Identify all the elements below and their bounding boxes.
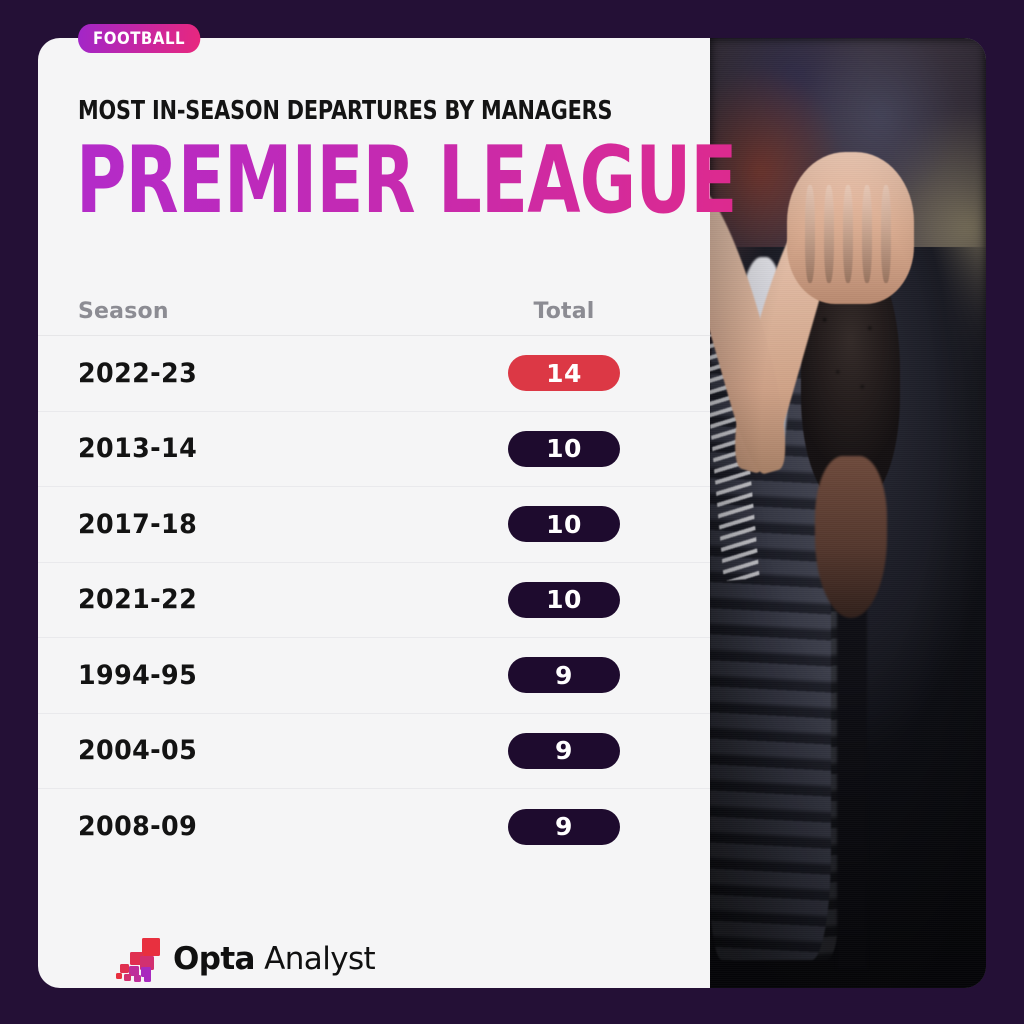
table-row: 2017-18 10 <box>38 487 710 563</box>
cell-season: 2013-14 <box>78 433 197 464</box>
cell-total: 9 <box>478 657 650 693</box>
table-row: 2013-14 10 <box>38 412 710 488</box>
cell-total: 9 <box>478 733 650 769</box>
cell-season: 2022-23 <box>78 358 197 389</box>
column-header-season: Season <box>78 299 169 324</box>
photo-grain <box>710 38 986 988</box>
total-pill: 10 <box>508 506 620 542</box>
total-pill: 9 <box>508 733 620 769</box>
opta-analyst-logo: Opta Analyst <box>116 936 375 982</box>
cell-season: 2021-22 <box>78 584 197 615</box>
table-row: 2008-09 9 <box>38 789 710 865</box>
column-header-total: Total <box>478 299 650 324</box>
infographic-root: MOST IN-SEASON DEPARTURES BY MANAGERS PR… <box>0 0 1024 1024</box>
cell-season: 1994-95 <box>78 660 197 691</box>
logo-suffix: Analyst <box>255 941 375 977</box>
category-badge: FOOTBALL <box>78 24 200 53</box>
manager-photo <box>710 38 986 988</box>
total-pill: 14 <box>508 355 620 391</box>
stats-table: Season Total 2022-23 14 2013-14 10 <box>38 288 710 865</box>
cell-total: 10 <box>478 582 650 618</box>
cell-total: 14 <box>478 355 650 391</box>
page-title: PREMIER LEAGUE <box>76 134 737 227</box>
logo-brand: Opta <box>173 941 255 977</box>
table-row: 2004-05 9 <box>38 714 710 790</box>
total-pill: 9 <box>508 809 620 845</box>
cell-season: 2008-09 <box>78 811 197 842</box>
total-pill: 10 <box>508 582 620 618</box>
cell-total: 10 <box>478 506 650 542</box>
cell-season: 2017-18 <box>78 509 197 540</box>
content-column: MOST IN-SEASON DEPARTURES BY MANAGERS PR… <box>38 38 710 988</box>
cell-total: 9 <box>478 809 650 845</box>
cell-season: 2004-05 <box>78 735 197 766</box>
table-row: 2021-22 10 <box>38 563 710 639</box>
opta-staircase-icon <box>116 936 162 982</box>
total-pill: 9 <box>508 657 620 693</box>
logo-wordmark: Opta Analyst <box>173 941 375 977</box>
content-card: MOST IN-SEASON DEPARTURES BY MANAGERS PR… <box>38 38 986 988</box>
total-pill: 10 <box>508 431 620 467</box>
table-header-row: Season Total <box>38 288 710 336</box>
kicker-text: MOST IN-SEASON DEPARTURES BY MANAGERS <box>78 96 612 126</box>
cell-total: 10 <box>478 431 650 467</box>
table-row: 1994-95 9 <box>38 638 710 714</box>
table-row: 2022-23 14 <box>38 336 710 412</box>
